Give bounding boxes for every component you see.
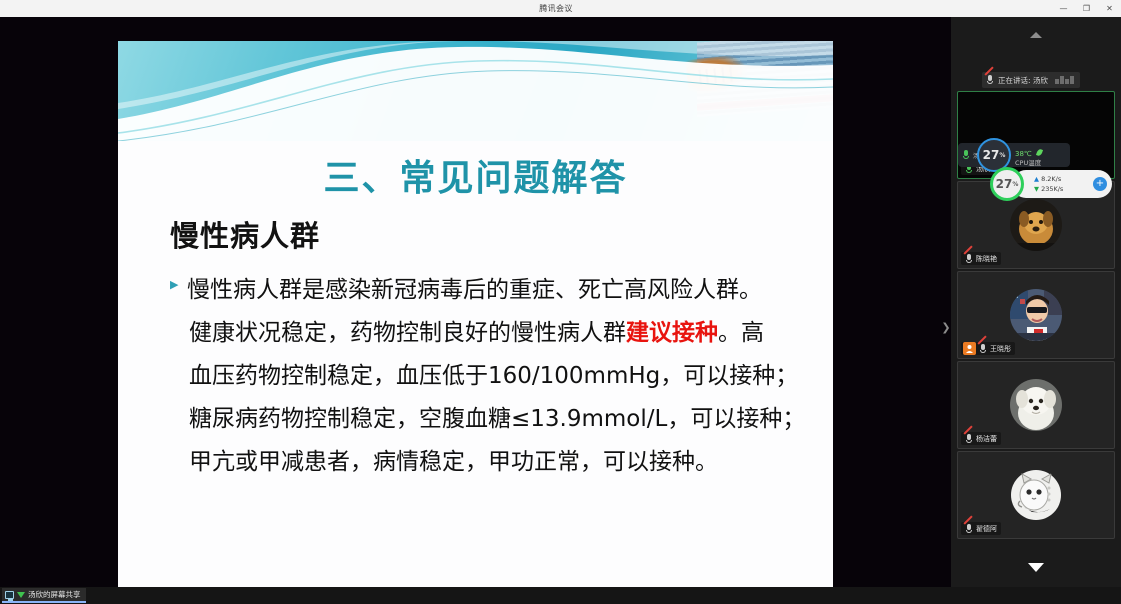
mic-muted-icon	[965, 254, 973, 264]
participant-nametag: 王晓彤	[961, 342, 1015, 355]
slide-line-3: 血压药物控制稳定，血压低于160/100mmHg，可以接种；	[189, 355, 810, 398]
window-title: 腾讯会议	[0, 3, 1052, 14]
dog-photo-avatar-icon	[1010, 199, 1062, 251]
cpu-monitor-widget[interactable]: 汤 27% 38℃ CPU温度	[958, 143, 1070, 167]
chevron-down-icon	[1028, 563, 1044, 572]
speaking-label: 正在讲话: 汤欣	[998, 75, 1048, 86]
speaking-indicator: 正在讲话: 汤欣	[982, 72, 1080, 88]
participant-tile[interactable]: 王晓彤	[957, 271, 1115, 359]
cpu-temp-block: 38℃ CPU温度	[1015, 146, 1042, 168]
network-usage-unit: %	[1012, 181, 1018, 188]
close-icon[interactable]: ✕	[1098, 0, 1121, 17]
person-sunglasses-avatar-icon	[1010, 289, 1062, 341]
monitor-icon	[5, 591, 14, 599]
participant-tile[interactable]: 翟德阿	[957, 451, 1115, 539]
white-dog-avatar-icon	[1010, 379, 1062, 431]
scroll-up-button[interactable]	[951, 25, 1121, 45]
audio-level-bars-icon	[1055, 76, 1074, 84]
cpu-usage-unit: %	[999, 152, 1005, 159]
cpu-temp-value: 38℃	[1015, 150, 1032, 158]
mic-muted-icon	[965, 434, 973, 444]
scroll-down-button[interactable]	[951, 555, 1121, 579]
participant-nametag: 杨洁蕾	[961, 432, 1001, 445]
avatar	[1010, 199, 1062, 251]
avatar	[1010, 289, 1062, 341]
cpu-usage-value: 27	[983, 148, 1000, 162]
window-title-bar: 腾讯会议 — ❐ ✕	[0, 0, 1121, 17]
slide-line-5: 甲亢或甲减患者，病情稳定，甲功正常，可以接种。	[189, 441, 810, 484]
slide-header-banner	[118, 41, 833, 141]
avatar	[1010, 469, 1062, 521]
taskbar: 汤欣的屏幕共享	[0, 587, 1121, 604]
maximize-icon[interactable]: ❐	[1075, 0, 1098, 17]
participant-name: 王晓彤	[990, 344, 1011, 354]
avatar	[1010, 379, 1062, 431]
shared-screen-stage: 三、常见问题解答 慢性病人群 ▶ 慢性病人群是感染新冠病毒后的重症、死亡高风险人…	[0, 17, 951, 587]
taskbar-item-screen-share[interactable]: 汤欣的屏幕共享	[2, 588, 86, 603]
mic-muted-icon	[979, 344, 987, 354]
participant-nametag: 陈晓艳	[961, 252, 1001, 265]
network-rates: ▲ 8.2K/s ▼ 235K/s	[1034, 174, 1063, 194]
network-expand-button[interactable]: +	[1093, 177, 1107, 191]
collapse-panel-chevron-right-icon[interactable]: ❯	[941, 320, 951, 336]
slide-body: ▶ 慢性病人群是感染新冠病毒后的重症、死亡高风险人群。 健康状况稳定，药物控制良…	[170, 269, 810, 484]
presentation-slide: 三、常见问题解答 慢性病人群 ▶ 慢性病人群是感染新冠病毒后的重症、死亡高风险人…	[118, 41, 833, 596]
network-usage-ring: 27%	[990, 167, 1024, 201]
download-arrow-icon	[17, 592, 25, 598]
slide-line-4: 糖尿病药物控制稳定，空腹血糖≤13.9mmol/L，可以接种；	[189, 398, 810, 441]
network-usage-value: 27	[996, 177, 1013, 191]
wave-decoration	[118, 41, 833, 141]
mic-muted-icon	[986, 75, 994, 85]
host-badge-icon	[963, 342, 976, 355]
cpu-temp-label: CPU温度	[1015, 159, 1042, 168]
slide-line-2: 健康状况稳定，药物控制良好的慢性病人群建议接种。高	[189, 312, 810, 355]
slide-line-2-pre: 健康状况稳定，药物控制良好的慢性病人群	[189, 320, 626, 346]
cartoon-cat-avatar-icon	[1010, 469, 1062, 521]
participant-nametag: 翟德阿	[961, 522, 1001, 535]
chevron-up-icon	[1030, 32, 1042, 38]
upload-arrow-icon: ▲	[1034, 175, 1039, 183]
window-controls: — ❐ ✕	[1052, 0, 1121, 17]
download-rate: 235K/s	[1041, 185, 1063, 193]
slide-line-2-post: 。高	[718, 320, 764, 346]
slide-subheading: 慢性病人群	[170, 213, 320, 255]
leaf-icon	[1036, 148, 1043, 156]
slide-line-2-highlight: 建议接种	[626, 320, 718, 346]
slide-title: 三、常见问题解答	[118, 149, 833, 201]
participant-tile[interactable]: 杨洁蕾	[957, 361, 1115, 449]
slide-line-1: 慢性病人群是感染新冠病毒后的重症、死亡高风险人群。	[187, 269, 810, 312]
participant-name: 陈晓艳	[976, 254, 997, 264]
download-arrow-icon: ▼	[1034, 185, 1039, 193]
participant-sidebar: 正在讲话: 汤欣 汤欣	[951, 17, 1121, 587]
participant-name: 杨洁蕾	[976, 434, 997, 444]
bullet-triangle-icon: ▶	[170, 279, 187, 290]
upload-rate: 8.2K/s	[1041, 175, 1061, 183]
participant-name: 翟德阿	[976, 524, 997, 534]
taskbar-item-label: 汤欣的屏幕共享	[28, 589, 81, 600]
network-monitor-widget[interactable]: 27% ▲ 8.2K/s ▼ 235K/s +	[1012, 170, 1112, 198]
minimize-icon[interactable]: —	[1052, 0, 1075, 17]
mic-muted-icon	[965, 524, 973, 534]
mic-on-icon	[962, 150, 970, 160]
